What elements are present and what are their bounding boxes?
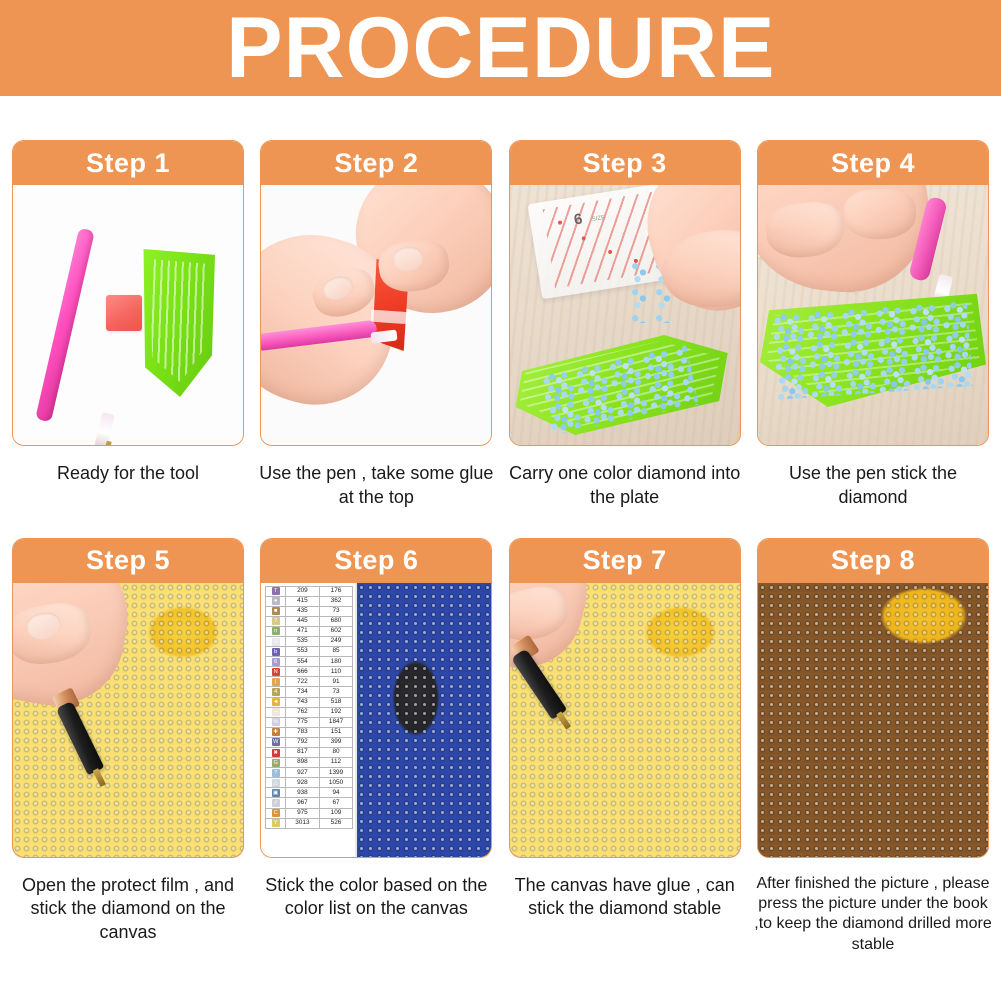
color-count-cell: 67: [319, 798, 353, 808]
color-swatch-icon: b: [272, 648, 280, 656]
step-badge-2: Step 2: [261, 141, 491, 185]
color-symbol-cell: ?: [266, 768, 286, 778]
color-symbol-cell: |: [266, 677, 286, 687]
color-list-row: b55385: [266, 647, 353, 657]
color-code-cell: 967: [286, 798, 320, 808]
color-code-cell: 666: [286, 667, 320, 677]
color-swatch-icon: ─: [272, 708, 280, 716]
color-code-cell: 743: [286, 697, 320, 707]
step-image-1: [13, 185, 243, 445]
color-count-cell: 249: [319, 636, 353, 646]
color-swatch-icon: %: [272, 718, 280, 726]
color-count-cell: 80: [319, 748, 353, 758]
color-symbol-cell: ✖: [266, 748, 286, 758]
pink-pen-icon: [35, 228, 95, 423]
color-count-cell: 91: [319, 677, 353, 687]
color-swatch-icon: 7: [272, 617, 280, 625]
color-code-cell: 817: [286, 748, 320, 758]
color-list-row: n471602: [266, 626, 353, 636]
color-symbol-cell: ◄: [266, 697, 286, 707]
page-banner: PROCEDURE: [0, 0, 1001, 96]
color-swatch-icon: ●: [272, 597, 280, 605]
step-card-2: Step 2: [260, 140, 492, 446]
step-card-5: Step 5: [12, 538, 244, 858]
color-swatch-icon: ✚: [272, 728, 280, 736]
step-image-3: 6 SIZE: [510, 185, 740, 445]
color-symbol-cell: ─: [266, 707, 286, 717]
color-symbol-cell: b: [266, 647, 286, 657]
step-card-4: Step 4: [757, 140, 989, 446]
step-badge-6: Step 6: [261, 539, 491, 583]
color-symbol-cell: ●: [266, 596, 286, 606]
step-card-3: Step 3 6 SIZE: [509, 140, 741, 446]
color-symbol-cell: C: [266, 808, 286, 818]
color-swatch-icon: T: [272, 587, 280, 595]
color-code-cell: 415: [286, 596, 320, 606]
color-list-row: %7751847: [266, 717, 353, 727]
step-badge-8: Step 8: [758, 539, 988, 583]
glue-square-icon: [106, 295, 142, 331]
color-count-cell: 680: [319, 616, 353, 626]
color-list-row: G898112: [266, 758, 353, 768]
color-symbol-cell: ✚: [266, 727, 286, 737]
color-symbol-cell: n: [266, 626, 286, 636]
color-code-cell: 722: [286, 677, 320, 687]
step-caption-1: Ready for the tool: [8, 462, 248, 486]
step-image-4: [758, 185, 988, 445]
step-image-5: [13, 583, 243, 857]
color-list-row: ⫽96767: [266, 798, 353, 808]
step-badge-4: Step 4: [758, 141, 988, 185]
step-caption-2: Use the pen , take some glue at the top: [256, 462, 496, 510]
color-symbol-cell: 6: [266, 657, 286, 667]
step-image-7: [510, 583, 740, 857]
color-count-cell: 109: [319, 808, 353, 818]
color-list-table: T209176●415362■435737445680n471602U53524…: [265, 586, 353, 829]
step-caption-3: Carry one color diamond into the plate: [505, 462, 745, 510]
color-symbol-cell: W: [266, 737, 286, 747]
color-count-cell: 112: [319, 758, 353, 768]
color-swatch-icon: 6: [272, 658, 280, 666]
color-list-row: ■43573: [266, 606, 353, 616]
color-code-cell: 445: [286, 616, 320, 626]
color-list-row: W792399: [266, 737, 353, 747]
color-count-cell: 73: [319, 606, 353, 616]
step-image-6: T209176●415362■435737445680n471602U53524…: [261, 583, 491, 857]
steps-row-top: Step 1 Ready for the tool Step 2: [12, 96, 989, 510]
color-list-row: U535249: [266, 636, 353, 646]
color-code-cell: 762: [286, 707, 320, 717]
procedure-grid: Step 1 Ready for the tool Step 2: [0, 96, 1001, 955]
color-code-cell: 775: [286, 717, 320, 727]
step-caption-8: After finished the picture , please pres…: [750, 874, 996, 956]
color-list-row: Y3013526: [266, 818, 353, 828]
color-count-cell: 192: [319, 707, 353, 717]
color-swatch-icon: |: [272, 678, 280, 686]
color-code-cell: 734: [286, 687, 320, 697]
color-symbol-cell: N: [266, 667, 286, 677]
step-caption-4: Use the pen stick the diamond: [753, 462, 993, 510]
mosaic-canvas-panel: [355, 583, 491, 857]
color-swatch-icon: 4: [272, 688, 280, 696]
steps-row-bottom: Step 5 Open the protect film , and stick…: [12, 510, 989, 956]
color-count-cell: 1399: [319, 768, 353, 778]
color-swatch-icon: G: [272, 759, 280, 767]
mosaic-canvas-icon: [357, 583, 491, 857]
color-symbol-cell: 4: [266, 687, 286, 697]
color-swatch-icon: ▣: [272, 789, 280, 797]
color-list-row: C975109: [266, 808, 353, 818]
color-list-row: ─762192: [266, 707, 353, 717]
color-count-cell: 526: [319, 818, 353, 828]
color-count-cell: 85: [319, 647, 353, 657]
color-list-body: T209176●415362■435737445680n471602U53524…: [266, 586, 353, 828]
step-cell-3: Step 3 6 SIZE Carry one color diamond in…: [509, 140, 741, 510]
color-swatch-icon: ⫽: [272, 799, 280, 807]
color-code-cell: 792: [286, 737, 320, 747]
color-count-cell: 180: [319, 657, 353, 667]
color-count-cell: 110: [319, 667, 353, 677]
color-code-cell: 471: [286, 626, 320, 636]
step-cell-1: Step 1 Ready for the tool: [12, 140, 244, 510]
color-swatch-icon: ?: [272, 769, 280, 777]
color-list-row: ✚783151: [266, 727, 353, 737]
color-symbol-cell: T: [266, 586, 286, 596]
color-swatch-icon: ◄: [272, 698, 280, 706]
step-badge-5: Step 5: [13, 539, 243, 583]
step-cell-4: Step 4 Use the pen stick the diamond: [757, 140, 989, 510]
color-list-row: ?9271399: [266, 768, 353, 778]
step-badge-1: Step 1: [13, 141, 243, 185]
color-swatch-icon: C: [272, 809, 280, 817]
color-code-cell: 898: [286, 758, 320, 768]
color-list-row: |72291: [266, 677, 353, 687]
step-image-2: [261, 185, 491, 445]
color-count-cell: 1050: [319, 778, 353, 788]
color-code-cell: 783: [286, 727, 320, 737]
color-count-cell: 362: [319, 596, 353, 606]
step-cell-8: Step 8 After finished the picture , plea…: [757, 538, 989, 956]
color-swatch-icon: N: [272, 668, 280, 676]
color-list-row: 473473: [266, 687, 353, 697]
color-code-cell: 535: [286, 636, 320, 646]
color-count-cell: 151: [319, 727, 353, 737]
color-swatch-icon: U: [272, 638, 280, 646]
color-symbol-cell: ▣: [266, 788, 286, 798]
color-code-cell: 554: [286, 657, 320, 667]
color-list-row: ●415362: [266, 596, 353, 606]
color-code-cell: 927: [286, 768, 320, 778]
color-swatch-icon: n: [272, 627, 280, 635]
step-cell-7: Step 7 The canvas have glue , can stick …: [509, 538, 741, 956]
step-cell-5: Step 5 Open the protect film , and stick…: [12, 538, 244, 956]
color-list-row: T209176: [266, 586, 353, 596]
step-card-8: Step 8: [757, 538, 989, 858]
color-list-row: N666110: [266, 667, 353, 677]
color-count-cell: 73: [319, 687, 353, 697]
color-symbol-cell: U: [266, 636, 286, 646]
step-cell-6: Step 6 T209176●415362■435737445680n47160…: [260, 538, 492, 956]
color-swatch-icon: ■: [272, 607, 280, 615]
color-list-row: ◄743518: [266, 697, 353, 707]
color-symbol-cell: ⫽: [266, 798, 286, 808]
step-caption-6: Stick the color based on the color list …: [256, 874, 496, 922]
color-swatch-icon: Y: [272, 819, 280, 827]
step-image-8: [758, 583, 988, 857]
color-list-panel: T209176●415362■435737445680n471602U53524…: [261, 583, 355, 857]
step-badge-3: Step 3: [510, 141, 740, 185]
color-code-cell: 209: [286, 586, 320, 596]
finished-painting-icon: [758, 583, 988, 857]
color-swatch-icon: △: [272, 779, 280, 787]
color-symbol-cell: △: [266, 778, 286, 788]
color-symbol-cell: ■: [266, 606, 286, 616]
step-card-6: Step 6 T209176●415362■435737445680n47160…: [260, 538, 492, 858]
color-symbol-cell: G: [266, 758, 286, 768]
color-swatch-icon: ✖: [272, 749, 280, 757]
color-count-cell: 399: [319, 737, 353, 747]
color-code-cell: 435: [286, 606, 320, 616]
color-code-cell: 3013: [286, 818, 320, 828]
color-symbol-cell: Y: [266, 818, 286, 828]
step-caption-5: Open the protect film , and stick the di…: [8, 874, 248, 945]
step-badge-7: Step 7: [510, 539, 740, 583]
color-symbol-cell: %: [266, 717, 286, 727]
color-swatch-icon: W: [272, 738, 280, 746]
color-list-row: △9281050: [266, 778, 353, 788]
color-list-row: ✖81780: [266, 748, 353, 758]
pen-tip-icon: [94, 412, 115, 445]
step-cell-2: Step 2 Use the pen , take some glue at t…: [260, 140, 492, 510]
color-list-row: ▣93894: [266, 788, 353, 798]
color-list-row: 6554180: [266, 657, 353, 667]
color-code-cell: 975: [286, 808, 320, 818]
step-caption-7: The canvas have glue , can stick the dia…: [505, 874, 745, 922]
step-card-7: Step 7: [509, 538, 741, 858]
color-count-cell: 176: [319, 586, 353, 596]
blue-diamonds-icon: [771, 300, 973, 399]
color-code-cell: 928: [286, 778, 320, 788]
color-code-cell: 938: [286, 788, 320, 798]
step-card-1: Step 1: [12, 140, 244, 446]
color-list-row: 7445680: [266, 616, 353, 626]
page-title: PROCEDURE: [226, 5, 775, 91]
color-count-cell: 1847: [319, 717, 353, 727]
color-code-cell: 553: [286, 647, 320, 657]
color-count-cell: 94: [319, 788, 353, 798]
color-count-cell: 602: [319, 626, 353, 636]
color-count-cell: 518: [319, 697, 353, 707]
color-symbol-cell: 7: [266, 616, 286, 626]
